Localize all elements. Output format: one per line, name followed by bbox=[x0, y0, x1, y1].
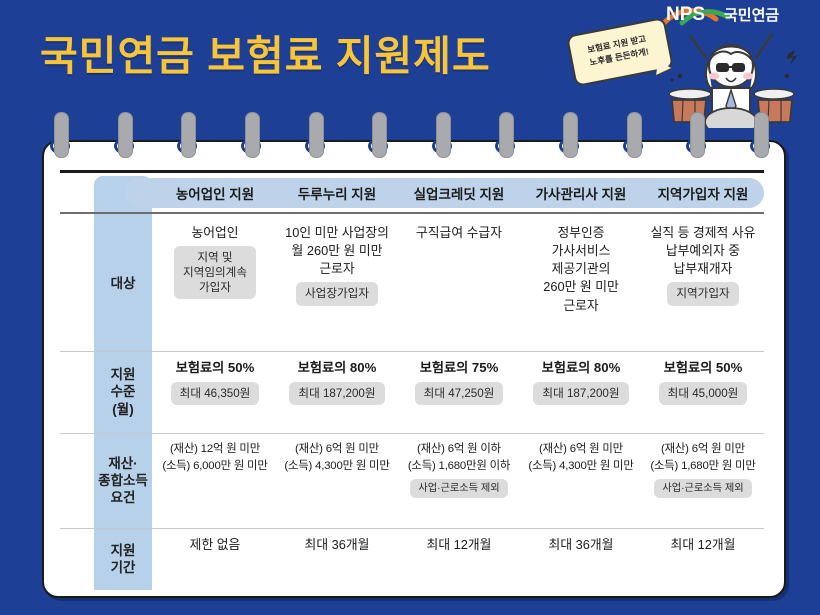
page-title: 국민연금 보험료 지원제도 bbox=[40, 22, 491, 82]
cell-main-text: 최대 12개월 bbox=[427, 536, 492, 554]
cell-tag-badge: 사업·근로소득 제외 bbox=[654, 479, 751, 498]
table-cell: 보험료의 75%최대 47,250원 bbox=[398, 359, 520, 431]
cell-main-text: (재산) 12억 원 미만 (소득) 6,000만 원 미만 bbox=[162, 441, 267, 475]
cell-tag-badge: 최대 46,350원 bbox=[171, 382, 260, 405]
column-header-5[interactable]: 지역가입자 지원 bbox=[642, 178, 764, 208]
row-label-1: 대상 bbox=[94, 216, 152, 351]
table-top-rule bbox=[60, 170, 764, 173]
table-cell: (재산) 6억 원 미만 (소득) 4,300만 원 미만 bbox=[276, 441, 398, 526]
header-banner: 국민연금 보험료 지원제도 NPS 국민연금 보험료 지원 받고 노후를 든든하… bbox=[0, 0, 820, 128]
table-cell: (재산) 6억 원 미만 (소득) 1,680만 원 미만사업·근로소득 제외 bbox=[642, 441, 764, 526]
cell-main-text: 실직 등 경제적 사유 납부예외자 중 납부재개자 bbox=[651, 224, 756, 278]
cell-tag-badge: 사업·근로소득 제외 bbox=[410, 479, 507, 498]
table-cell: 10인 미만 사업장의 월 260만 원 미만 근로자사업장가입자 bbox=[276, 224, 398, 349]
cell-tag-badge: 최대 45,000원 bbox=[659, 382, 748, 405]
cell-tag-badge: 사업장가입자 bbox=[296, 282, 378, 305]
table-cell: 보험료의 80%최대 187,200원 bbox=[276, 359, 398, 431]
cell-tag-badge: 최대 47,250원 bbox=[415, 382, 504, 405]
cell-main-text: 보험료의 50% bbox=[664, 359, 743, 378]
row-label-4: 지원 기간 bbox=[94, 528, 152, 590]
cell-tag-badge: 최대 187,200원 bbox=[289, 382, 384, 405]
table-cell: 실직 등 경제적 사유 납부예외자 중 납부재개자지역가입자 bbox=[642, 224, 764, 349]
row-label-2: 지원 수준 (월) bbox=[94, 351, 152, 433]
table-cell: 최대 12개월 bbox=[642, 536, 764, 588]
cell-main-text: 구직급여 수급자 bbox=[416, 224, 502, 242]
cell-main-text: (재산) 6억 원 이하 (소득) 1,680만원 이하 bbox=[408, 441, 510, 475]
table-cell: (재산) 6억 원 미만 (소득) 4,300만 원 미만 bbox=[520, 441, 642, 526]
table-cell: 농어업인지역 및 지역임의계속 가입자 bbox=[154, 224, 276, 349]
row-divider bbox=[60, 433, 764, 434]
row-divider bbox=[60, 528, 764, 529]
cell-main-text: 정부인증 가사서비스 제공기관의 260만 원 미만 근로자 bbox=[543, 224, 619, 315]
table-cell: 정부인증 가사서비스 제공기관의 260만 원 미만 근로자 bbox=[520, 224, 642, 349]
header-bottom-rule bbox=[60, 212, 764, 214]
cell-main-text: 보험료의 80% bbox=[298, 359, 377, 378]
table-cell: 최대 36개월 bbox=[520, 536, 642, 588]
table-cell: 보험료의 50%최대 46,350원 bbox=[154, 359, 276, 431]
infographic-page: 국민연금 보험료 지원제도 NPS 국민연금 보험료 지원 받고 노후를 든든하… bbox=[0, 0, 820, 615]
column-header-4[interactable]: 가사관리사 지원 bbox=[520, 178, 642, 208]
column-header-2[interactable]: 두루누리 지원 bbox=[276, 178, 398, 208]
cell-main-text: 제한 없음 bbox=[190, 536, 241, 554]
benefits-comparison-table: 농어업인 지원두루누리 지원실업크레딧 지원가사관리사 지원지역가입자 지원대상… bbox=[42, 140, 782, 594]
table-cell: 최대 12개월 bbox=[398, 536, 520, 588]
cell-main-text: 최대 12개월 bbox=[671, 536, 736, 554]
cell-main-text: (재산) 6억 원 미만 (소득) 4,300만 원 미만 bbox=[284, 441, 389, 475]
table-cell: 보험료의 50%최대 45,000원 bbox=[642, 359, 764, 431]
speech-bubble bbox=[566, 17, 674, 87]
table-cell: (재산) 12억 원 미만 (소득) 6,000만 원 미만 bbox=[154, 441, 276, 526]
table-cell: 제한 없음 bbox=[154, 536, 276, 588]
row-divider bbox=[60, 351, 764, 352]
cell-tag-badge: 최대 187,200원 bbox=[533, 382, 628, 405]
table-cell: 최대 36개월 bbox=[276, 536, 398, 588]
cell-tag-badge: 지역 및 지역임의계속 가입자 bbox=[174, 246, 256, 299]
cell-main-text: 보험료의 75% bbox=[420, 359, 499, 378]
cell-main-text: (재산) 6억 원 미만 (소득) 4,300만 원 미만 bbox=[528, 441, 633, 475]
cell-main-text: 보험료의 80% bbox=[542, 359, 621, 378]
column-header-3[interactable]: 실업크레딧 지원 bbox=[398, 178, 520, 208]
cell-main-text: 농어업인 bbox=[191, 224, 238, 242]
cell-main-text: 보험료의 50% bbox=[176, 359, 255, 378]
cell-main-text: 10인 미만 사업장의 월 260만 원 미만 근로자 bbox=[285, 224, 389, 278]
row-label-3: 재산· 종합소득 요건 bbox=[94, 433, 152, 528]
table-cell: 구직급여 수급자 bbox=[398, 224, 520, 349]
table-cell: 보험료의 80%최대 187,200원 bbox=[520, 359, 642, 431]
cell-main-text: 최대 36개월 bbox=[305, 536, 370, 554]
cell-main-text: 최대 36개월 bbox=[549, 536, 614, 554]
cell-tag-badge: 지역가입자 bbox=[667, 282, 738, 305]
table-cell: (재산) 6억 원 이하 (소득) 1,680만원 이하사업·근로소득 제외 bbox=[398, 441, 520, 526]
cell-main-text: (재산) 6억 원 미만 (소득) 1,680만 원 미만 bbox=[650, 441, 755, 475]
column-header-1[interactable]: 농어업인 지원 bbox=[154, 178, 276, 208]
